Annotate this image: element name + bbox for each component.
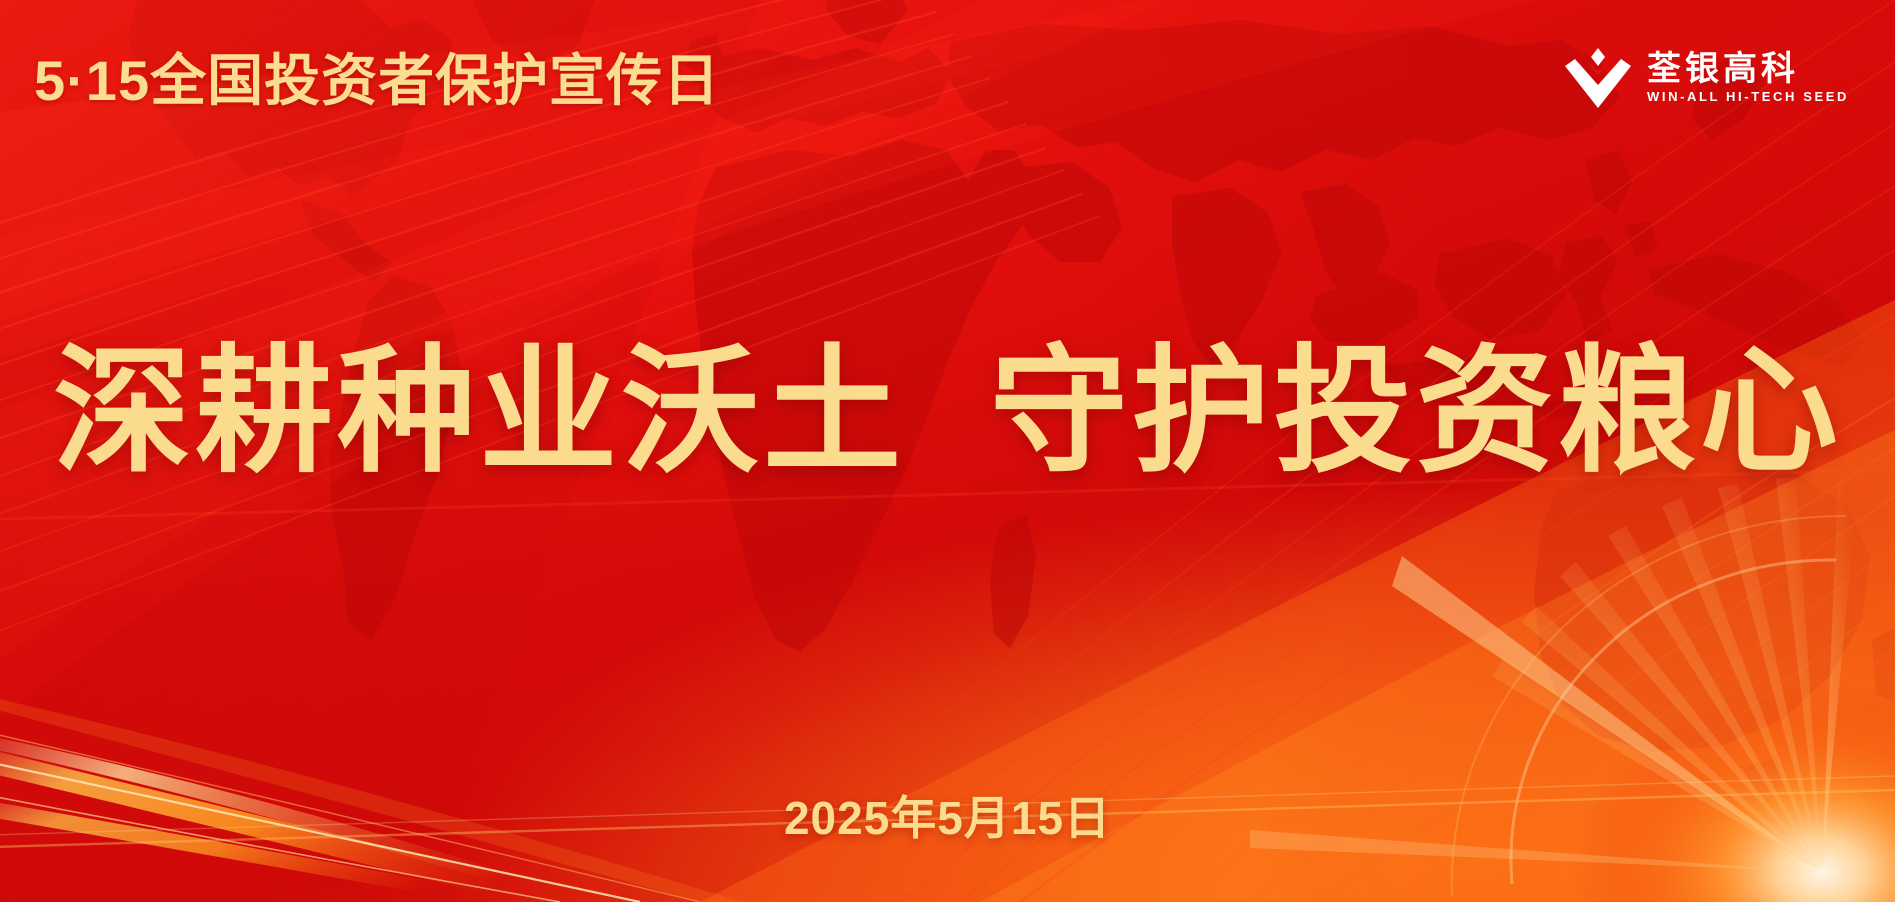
logo-wordmark: 荃银高科 WIN-ALL HI-TECH SEED xyxy=(1647,52,1849,105)
win-all-chevron-logo-icon xyxy=(1565,47,1631,109)
event-date: 2025年5月15日 xyxy=(784,795,1111,841)
investor-protection-banner: 5·15全国投资者保护宣传日 荃银高科 WIN-ALL HI-TECH SEED… xyxy=(0,0,1895,902)
headline-block: 深耕种业沃土 守护投资粮心 xyxy=(0,338,1895,487)
logo-name-en: WIN-ALL HI-TECH SEED xyxy=(1647,90,1849,104)
logo-name-cn: 荃银高科 xyxy=(1647,52,1849,88)
date-block: 2025年5月15日 xyxy=(0,795,1895,841)
banner-header: 5·15全国投资者保护宣传日 荃银高科 WIN-ALL HI-TECH SEED xyxy=(0,0,1895,150)
company-logo: 荃银高科 WIN-ALL HI-TECH SEED xyxy=(1565,47,1849,109)
campaign-title: 5·15全国投资者保护宣传日 xyxy=(34,53,720,109)
main-headline: 深耕种业沃土 守护投资粮心 xyxy=(53,338,1842,487)
